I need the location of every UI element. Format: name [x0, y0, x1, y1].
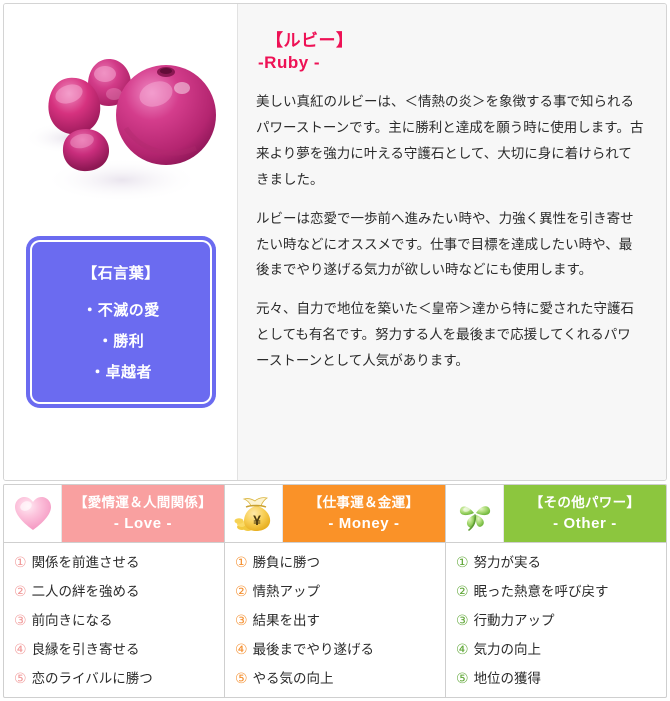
money-bag-icon: ¥: [225, 485, 283, 542]
gem-title-en: -Ruby -: [258, 53, 644, 73]
category-label-money: 【仕事運＆金運】 - Money -: [283, 485, 445, 542]
category-header-love: 【愛情運＆人間関係】 - Love -: [4, 485, 224, 543]
list-item-number: ④: [456, 639, 469, 661]
power-categories-table: 【愛情運＆人間関係】 - Love - ① 関係を前進させる ② 二人の絆を強め…: [3, 484, 667, 698]
clover-icon: [446, 485, 504, 542]
list-item-text: 努力が実る: [474, 553, 666, 574]
list-item: ④ 良縁を引き寄せる: [14, 639, 224, 661]
list-item-text: 気力の向上: [474, 640, 666, 661]
list-item: ① 努力が実る: [456, 552, 666, 574]
category-list-money: ① 勝負に勝つ ② 情熱アップ ③ 結果を出す ④ 最後までやり遂げる ⑤: [225, 543, 445, 697]
list-item: ① 勝負に勝つ: [235, 552, 445, 574]
list-item-text: 情熱アップ: [253, 582, 445, 603]
category-header-other: 【その他パワー】 - Other -: [446, 485, 666, 543]
list-item-text: 二人の絆を強める: [32, 582, 224, 603]
list-item: ② 情熱アップ: [235, 581, 445, 603]
list-item-number: ②: [14, 581, 27, 603]
category-column-other: 【その他パワー】 - Other - ① 努力が実る ② 眠った熱意を呼び戻す …: [445, 485, 666, 697]
heart-icon: [4, 485, 62, 542]
gem-paragraph: 美しい真紅のルビーは、＜情熱の炎＞を象徴する事で知られるパワーストーンです。主に…: [256, 89, 644, 193]
stone-word-item: ・卓越者: [90, 361, 152, 382]
list-item-text: 結果を出す: [253, 611, 445, 632]
list-item-text: 眠った熱意を呼び戻す: [474, 582, 666, 603]
list-item-text: 行動力アップ: [474, 611, 666, 632]
gem-title-jp: 【ルビー】: [266, 26, 644, 51]
list-item-text: やる気の向上: [253, 669, 445, 690]
gemstone-info-page: 【石言葉】 ・不滅の愛 ・勝利 ・卓越者 【ルビー】 -Ruby - 美しい真紅…: [0, 0, 670, 701]
list-item-number: ⑤: [235, 668, 248, 690]
stone-words-title: 【石言葉】: [82, 262, 160, 283]
category-list-other: ① 努力が実る ② 眠った熱意を呼び戻す ③ 行動力アップ ④ 気力の向上 ⑤: [446, 543, 666, 697]
category-column-money: ¥ 【仕事運＆金運】 - Money - ① 勝負に勝つ ② 情熱アップ: [224, 485, 445, 697]
category-title-jp: 【仕事運＆金運】: [309, 493, 419, 513]
category-title-jp: 【その他パワー】: [530, 493, 640, 513]
category-header-money: ¥ 【仕事運＆金運】 - Money -: [225, 485, 445, 543]
list-item-number: ①: [14, 552, 27, 574]
gem-photo-pane: 【石言葉】 ・不滅の愛 ・勝利 ・卓越者: [4, 4, 238, 480]
list-item-text: 関係を前進させる: [32, 553, 224, 574]
list-item-text: 恋のライバルに勝つ: [32, 669, 224, 690]
list-item-number: ③: [456, 610, 469, 632]
list-item-text: 良縁を引き寄せる: [32, 640, 224, 661]
gem-overview-card: 【石言葉】 ・不滅の愛 ・勝利 ・卓越者 【ルビー】 -Ruby - 美しい真紅…: [3, 3, 667, 481]
gem-paragraph: 元々、自力で地位を築いた＜皇帝＞達から特に愛された守護石としても有名です。努力す…: [256, 296, 644, 374]
category-label-other: 【その他パワー】 - Other -: [504, 485, 666, 542]
list-item: ① 関係を前進させる: [14, 552, 224, 574]
list-item: ③ 行動力アップ: [456, 610, 666, 632]
list-item: ④ 気力の向上: [456, 639, 666, 661]
gem-paragraph: ルビーは恋愛で一歩前へ進みたい時や、力強く異性を引き寄せたい時などにオススメです…: [256, 206, 644, 284]
category-title-en: - Love -: [114, 513, 172, 535]
gem-description-pane: 【ルビー】 -Ruby - 美しい真紅のルビーは、＜情熱の炎＞を象徴する事で知ら…: [238, 4, 666, 480]
list-item-number: ④: [14, 639, 27, 661]
list-item: ⑤ 地位の獲得: [456, 668, 666, 690]
list-item-text: 勝負に勝つ: [253, 553, 445, 574]
list-item-number: ⑤: [456, 668, 469, 690]
stone-words-list: ・不滅の愛 ・勝利 ・卓越者: [82, 299, 160, 382]
list-item: ⑤ やる気の向上: [235, 668, 445, 690]
stone-word-item: ・不滅の愛: [82, 299, 160, 320]
list-item-number: ⑤: [14, 668, 27, 690]
list-item-number: ①: [235, 552, 248, 574]
list-item-number: ②: [456, 581, 469, 603]
category-list-love: ① 関係を前進させる ② 二人の絆を強める ③ 前向きになる ④ 良縁を引き寄せ…: [4, 543, 224, 697]
list-item-number: ①: [456, 552, 469, 574]
list-item-number: ③: [14, 610, 27, 632]
svg-text:¥: ¥: [253, 512, 261, 528]
stone-word-item: ・勝利: [98, 330, 145, 351]
list-item: ③ 結果を出す: [235, 610, 445, 632]
list-item-number: ④: [235, 639, 248, 661]
list-item: ③ 前向きになる: [14, 610, 224, 632]
category-title-en: - Other -: [553, 513, 617, 535]
category-column-love: 【愛情運＆人間関係】 - Love - ① 関係を前進させる ② 二人の絆を強め…: [4, 485, 224, 697]
category-title-jp: 【愛情運＆人間関係】: [74, 493, 212, 513]
category-title-en: - Money -: [328, 513, 399, 535]
list-item-text: 前向きになる: [32, 611, 224, 632]
ruby-beads-photo: [10, 10, 232, 220]
list-item-text: 地位の獲得: [474, 669, 666, 690]
category-label-love: 【愛情運＆人間関係】 - Love -: [62, 485, 224, 542]
list-item: ⑤ 恋のライバルに勝つ: [14, 668, 224, 690]
list-item: ④ 最後までやり遂げる: [235, 639, 445, 661]
list-item: ② 二人の絆を強める: [14, 581, 224, 603]
list-item-number: ②: [235, 581, 248, 603]
list-item-text: 最後までやり遂げる: [253, 640, 445, 661]
list-item-number: ③: [235, 610, 248, 632]
list-item: ② 眠った熱意を呼び戻す: [456, 581, 666, 603]
stone-words-box: 【石言葉】 ・不滅の愛 ・勝利 ・卓越者: [26, 236, 216, 408]
